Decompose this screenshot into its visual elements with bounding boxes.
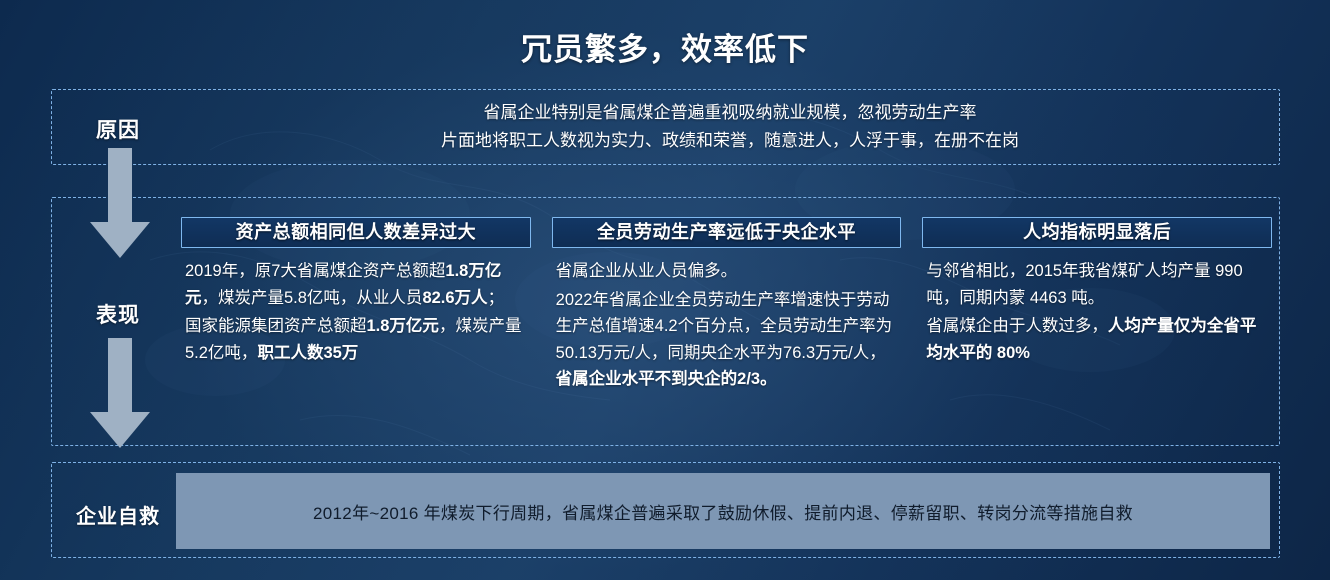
manifestation-columns: 资产总额相同但人数差异过大 2019年，原7大省属煤企资产总额超1.8万亿元，煤… bbox=[51, 197, 1280, 446]
stage-label-self-rescue: 企业自救 bbox=[58, 500, 178, 529]
self-rescue-bar: 2012年~2016 年煤炭下行周期，省属煤企普遍采取了鼓励休假、提前内退、停薪… bbox=[176, 473, 1270, 549]
self-rescue-text: 2012年~2016 年煤炭下行周期，省属煤企普遍采取了鼓励休假、提前内退、停薪… bbox=[313, 499, 1133, 524]
column-paragraph: 省属煤企由于人数过多，人均产量仅为全省平均水平的 80% bbox=[926, 313, 1268, 366]
column-body: 2019年，原7大省属煤企资产总额超1.8万亿元，煤炭产量5.8亿吨，从业人员8… bbox=[179, 258, 533, 366]
cause-line-2: 片面地将职工人数视为实力、政绩和荣誉，随意进人，人浮于事，在册不在岗 bbox=[190, 127, 1270, 155]
column-body: 省属企业从业人员偏多。2022年省属企业全员劳动生产率增速快于劳动生产总值增速4… bbox=[550, 258, 904, 393]
column-header: 全员劳动生产率远低于央企水平 bbox=[552, 217, 902, 248]
cause-text-block: 省属企业特别是省属煤企普遍重视吸纳就业规模，忽视劳动生产率 片面地将职工人数视为… bbox=[190, 99, 1270, 155]
column-paragraph: 2022年省属企业全员劳动生产率增速快于劳动生产总值增速4.2个百分点，全员劳动… bbox=[556, 287, 898, 393]
column-paragraph: 省属企业从业人员偏多。 bbox=[556, 258, 898, 285]
stage-label-cause: 原因 bbox=[58, 114, 178, 144]
column-body: 与邻省相比，2015年我省煤矿人均产量 990吨，同期内蒙 4463 吨。省属煤… bbox=[920, 258, 1274, 366]
column-header: 资产总额相同但人数差异过大 bbox=[181, 217, 531, 248]
slide-root: 冗员繁多，效率低下 原因 表现 企业自救 省属企业特别是省属煤企普遍重视吸纳就业… bbox=[0, 0, 1330, 580]
manifestation-column: 人均指标明显落后 与邻省相比，2015年我省煤矿人均产量 990吨，同期内蒙 4… bbox=[914, 197, 1280, 446]
column-header: 人均指标明显落后 bbox=[922, 217, 1272, 248]
column-paragraph: 2019年，原7大省属煤企资产总额超1.8万亿元，煤炭产量5.8亿吨，从业人员8… bbox=[185, 258, 527, 311]
column-paragraph: 国家能源集团资产总额超1.8万亿元，煤炭产量5.2亿吨，职工人数35万 bbox=[185, 313, 527, 366]
manifestation-column: 资产总额相同但人数差异过大 2019年，原7大省属煤企资产总额超1.8万亿元，煤… bbox=[173, 197, 539, 446]
page-title: 冗员繁多，效率低下 bbox=[0, 24, 1330, 69]
column-paragraph: 与邻省相比，2015年我省煤矿人均产量 990吨，同期内蒙 4463 吨。 bbox=[926, 258, 1268, 311]
cause-line-1: 省属企业特别是省属煤企普遍重视吸纳就业规模，忽视劳动生产率 bbox=[190, 99, 1270, 127]
manifestation-column: 全员劳动生产率远低于央企水平 省属企业从业人员偏多。2022年省属企业全员劳动生… bbox=[544, 197, 910, 446]
